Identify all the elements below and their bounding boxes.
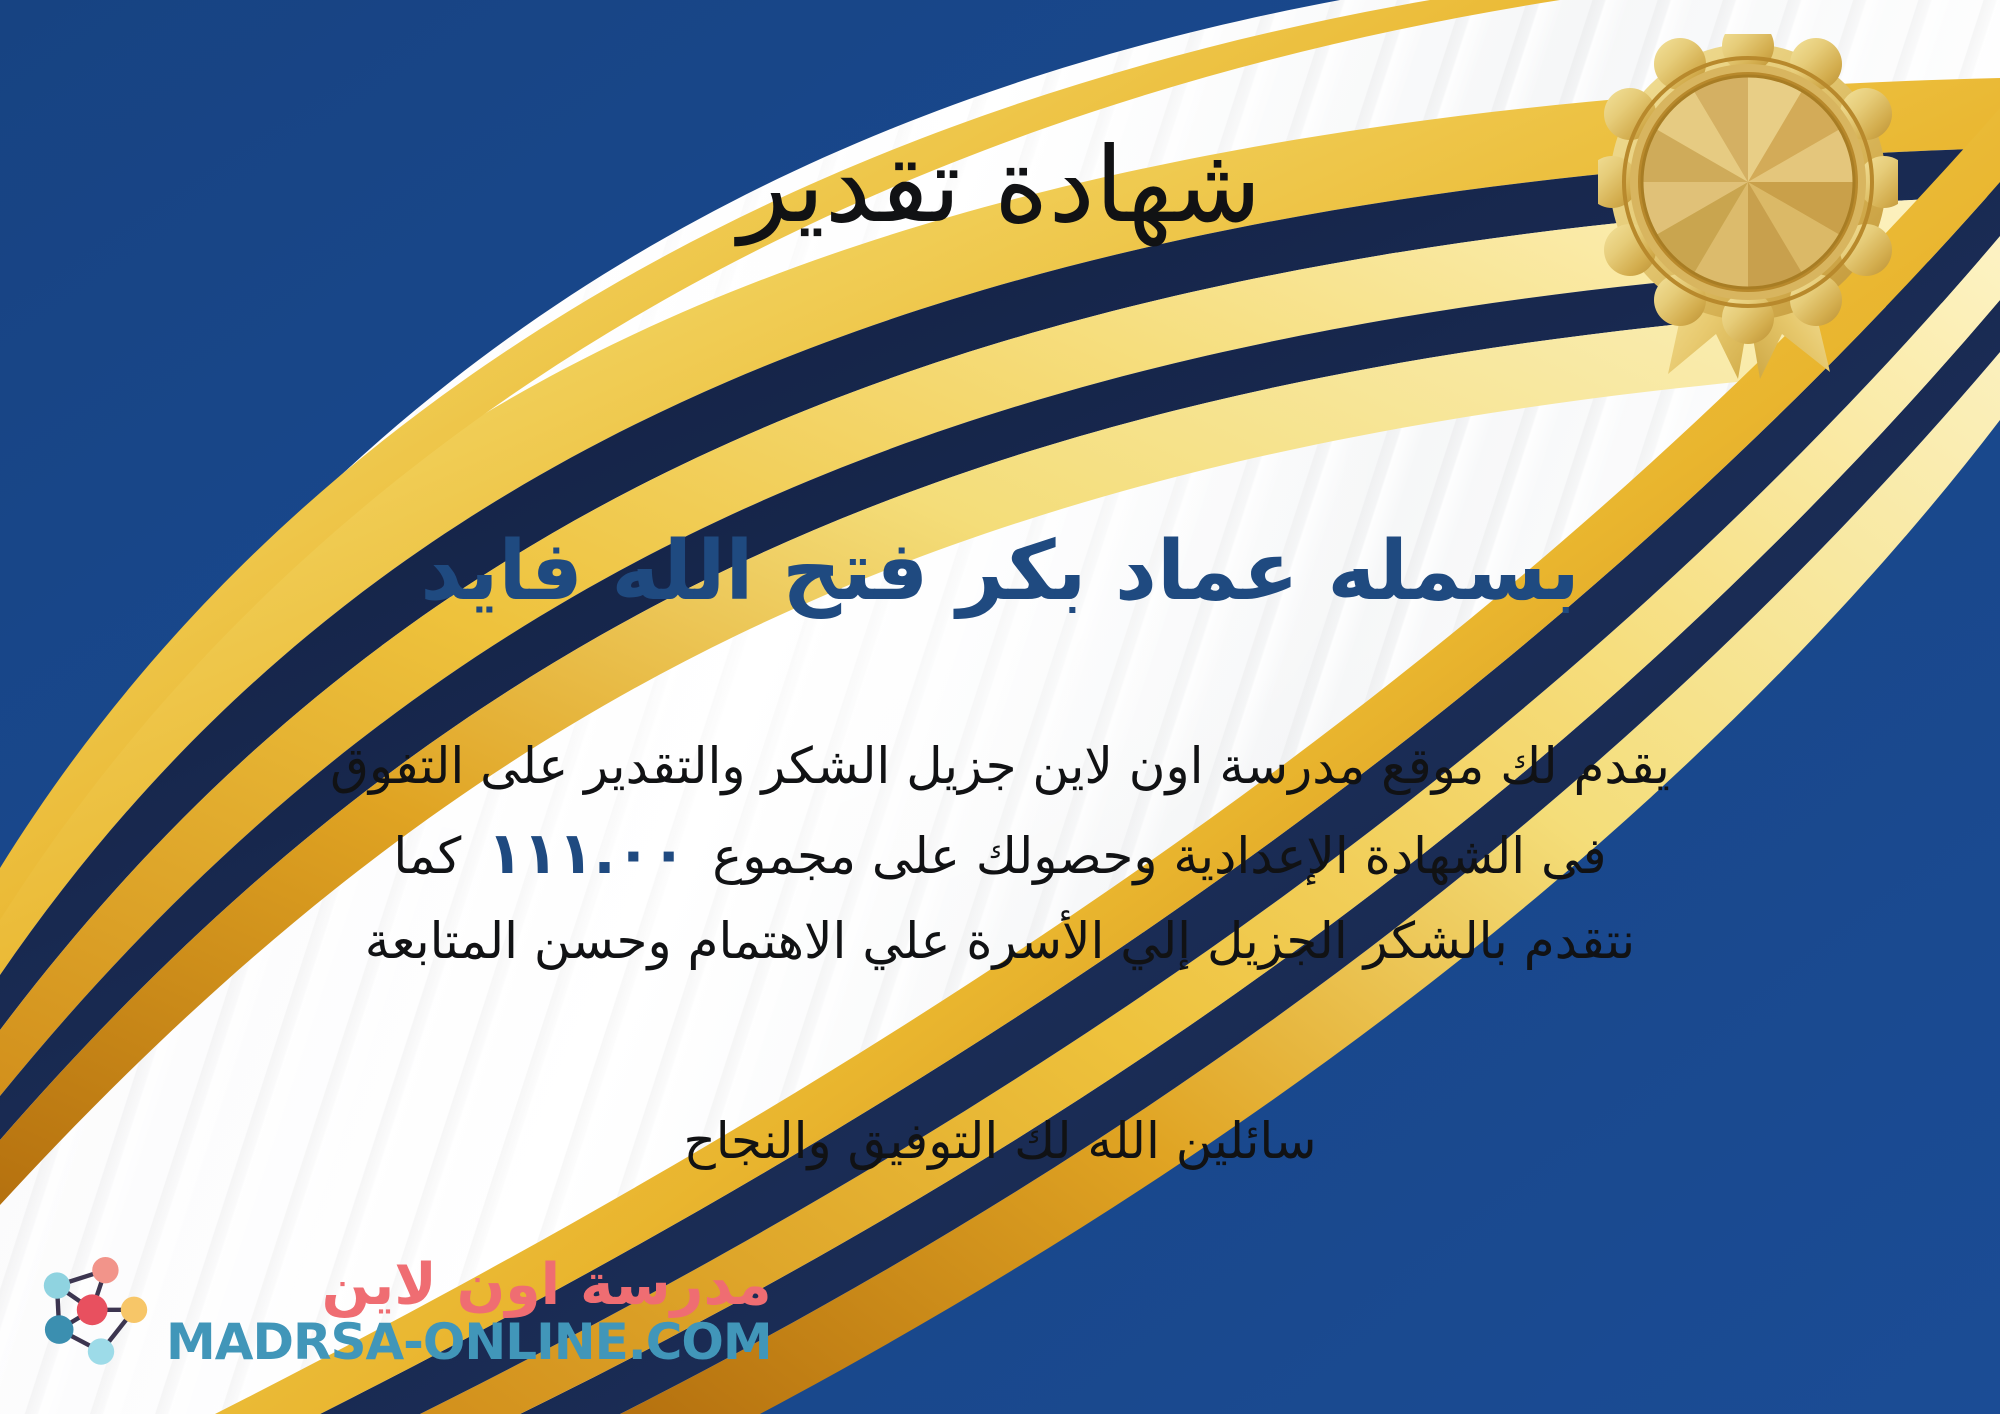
body-line-3: نتقدم بالشكر الجزيل إلي الأسرة علي الاهت… [60, 901, 1940, 982]
logo-website: MADRSA-ONLINE.COM [166, 1316, 772, 1369]
grade-total-value: ١١١.٠٠ [461, 819, 712, 887]
recipient-name: بسمله عماد بكر فتح الله فايد [0, 525, 2000, 619]
certificate-body: يقدم لك موقع مدرسة اون لاين جزيل الشكر و… [60, 726, 1940, 982]
logo-arabic-name: مدرسة اون لاين [322, 1256, 772, 1316]
body-line-1: يقدم لك موقع مدرسة اون لاين جزيل الشكر و… [60, 726, 1940, 807]
body-line-2: فى الشهادة الإعدادية وحصولك على مجموع١١١… [60, 807, 1940, 901]
site-logo: مدرسة اون لاين MADRSA-ONLINE.COM [24, 1246, 772, 1378]
closing-wish: سائلين الله لك التوفيق والنجاح [0, 1104, 2000, 1179]
network-nodes-icon [24, 1246, 156, 1378]
certificate-canvas: شهادة تقدير بسمله عماد بكر فتح الله فايد… [0, 0, 2000, 1414]
body-line-2-prefix: فى الشهادة الإعدادية وحصولك على مجموع [712, 827, 1606, 885]
body-line-2-suffix: كما [393, 827, 461, 885]
certificate-content: شهادة تقدير بسمله عماد بكر فتح الله فايد… [0, 0, 2000, 1414]
certificate-title: شهادة تقدير [0, 128, 2000, 242]
logo-text-block: مدرسة اون لاين MADRSA-ONLINE.COM [166, 1256, 772, 1368]
